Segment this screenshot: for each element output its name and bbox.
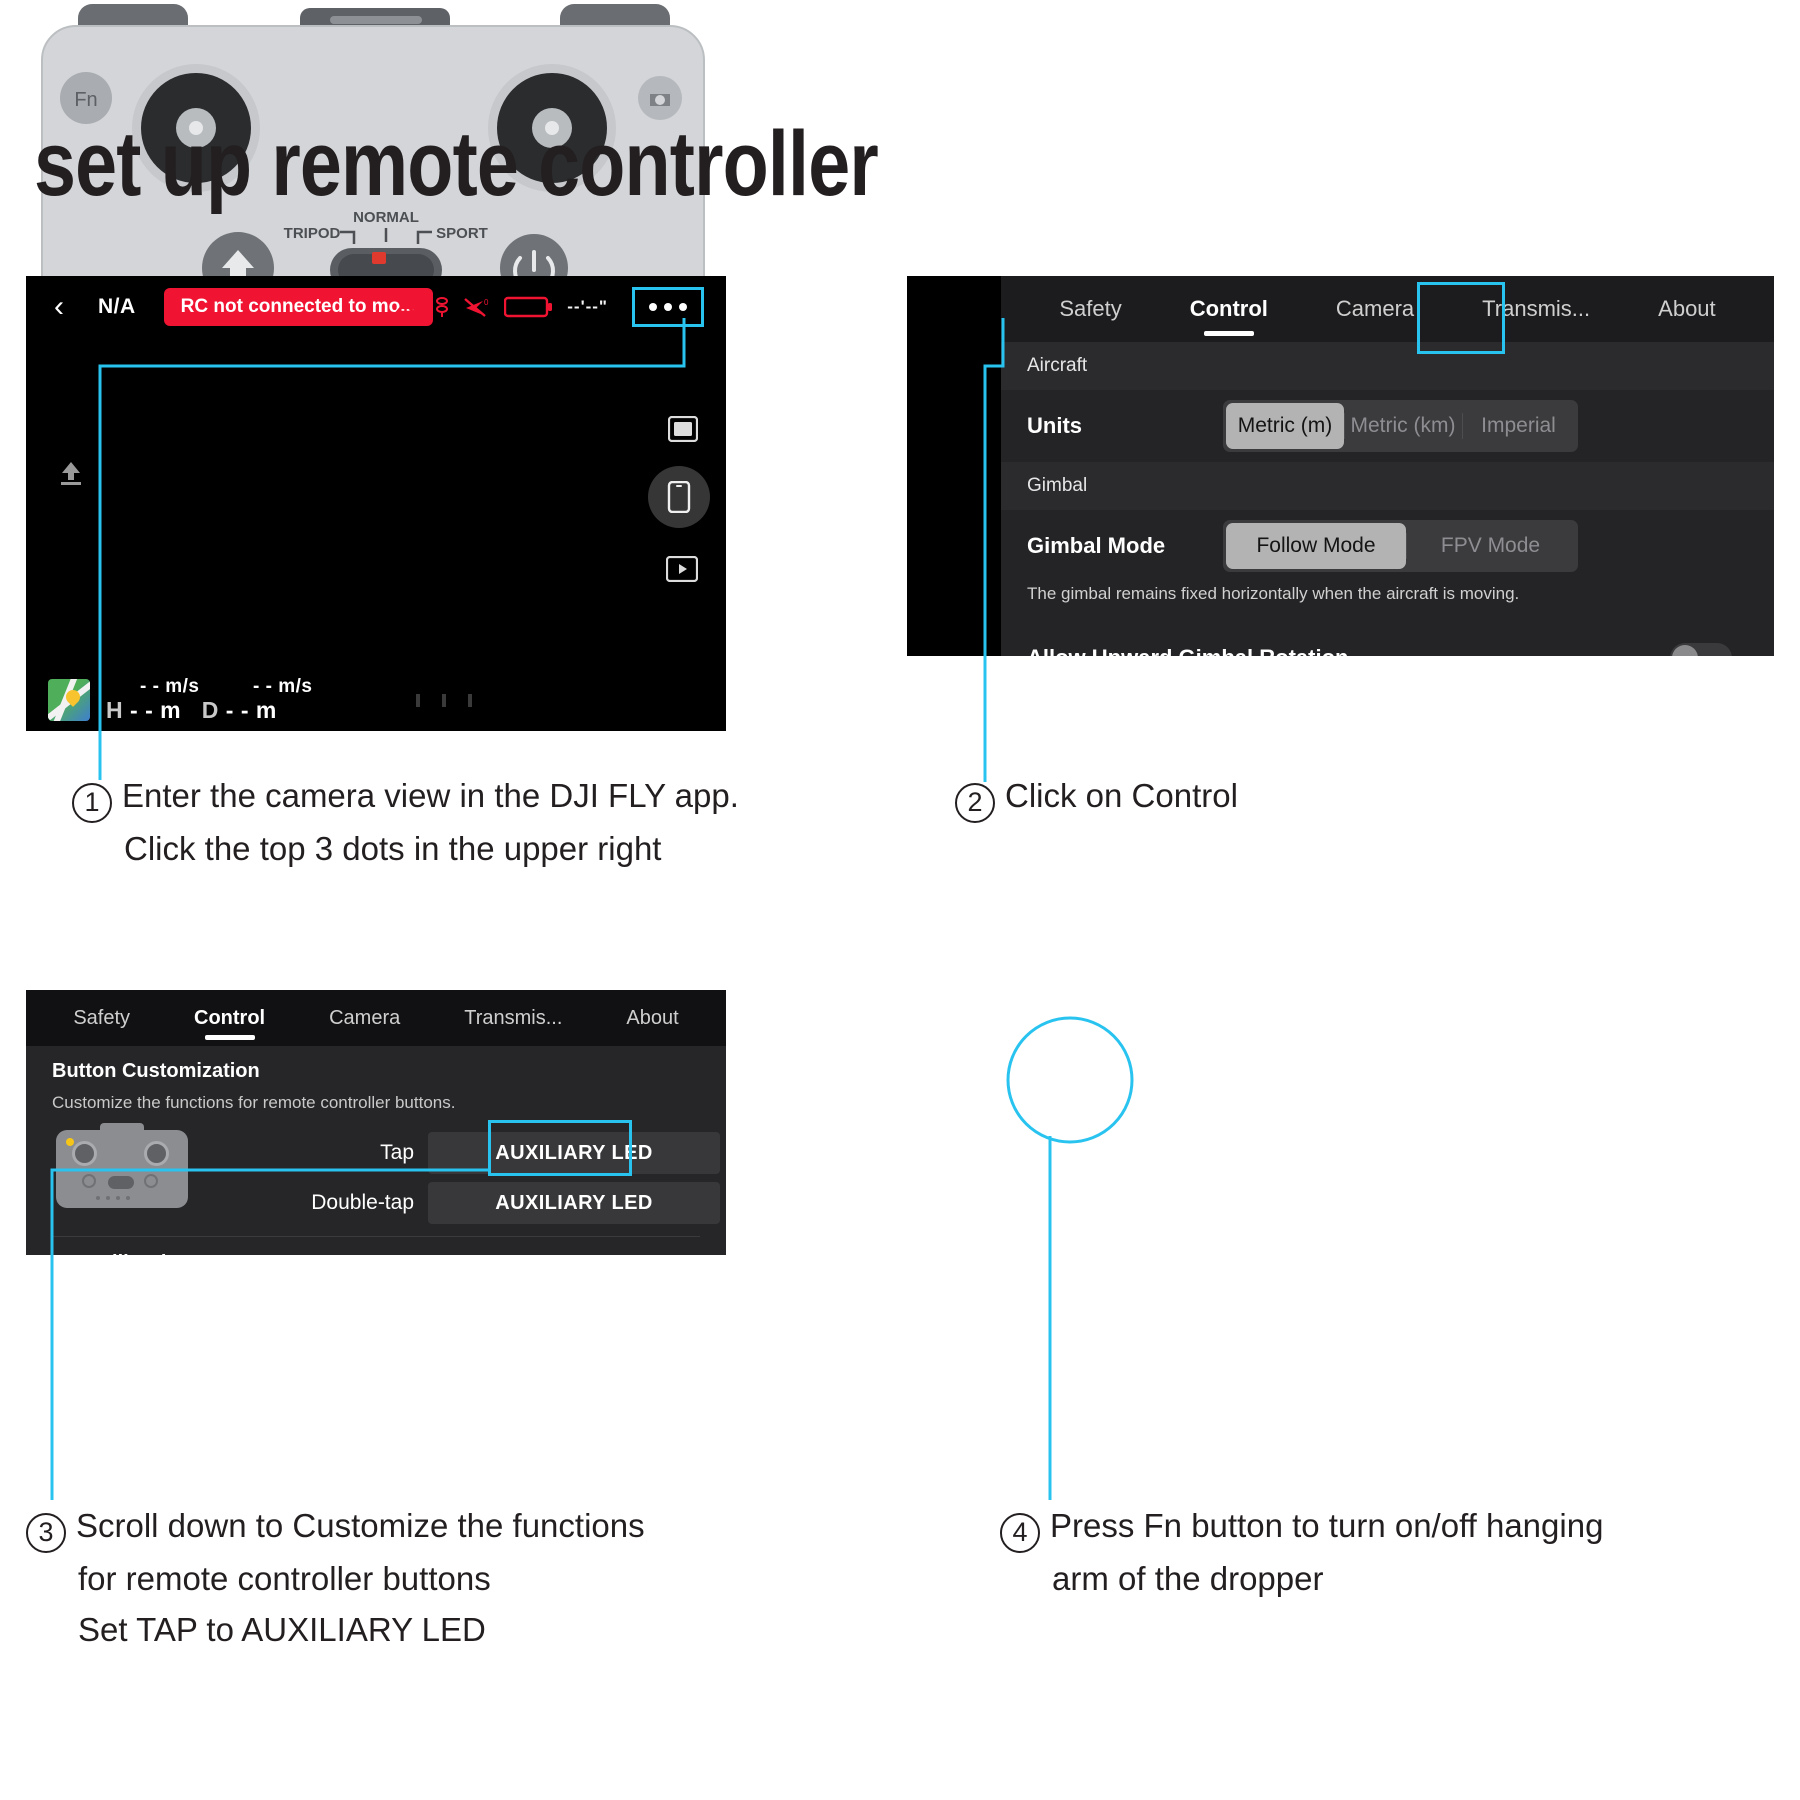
more-options-button[interactable] [632, 287, 704, 327]
tab-active-underline [1204, 331, 1254, 336]
back-chevron-icon[interactable]: ‹ [54, 292, 64, 322]
exposure-ticks [416, 694, 472, 707]
rc-calibration-row[interactable]: RC Calibration › [26, 1236, 726, 1255]
dot [649, 303, 657, 311]
upward-gimbal-label: Allow Upward Gimbal Rotation [1027, 645, 1348, 656]
tab-camera[interactable]: Camera [1302, 276, 1448, 342]
step-number-4: 4 [1000, 1513, 1040, 1553]
battery-time-label: --'--" [567, 297, 608, 317]
playback-icon[interactable] [666, 556, 698, 587]
page-title: set up remote controller [34, 112, 878, 217]
gimbal-mode-segmented-control[interactable]: Follow Mode FPV Mode [1223, 520, 1578, 572]
caption-4-line-1: Press Fn button to turn on/off hanging [1050, 1507, 1603, 1544]
units-option-metric-km[interactable]: Metric (km) [1344, 403, 1462, 449]
units-segmented-control[interactable]: Metric (m) Metric (km) Imperial [1223, 400, 1578, 452]
caption-3-line-3: Set TAP to AUXILIARY LED [26, 1604, 866, 1655]
led-indicator-icon [66, 1138, 74, 1146]
tab-safety[interactable]: Safety [1025, 276, 1155, 342]
gimbal-mode-hint: The gimbal remains fixed horizontally wh… [1001, 582, 1774, 620]
right-stick-icon [144, 1141, 169, 1166]
caption-step-1: 1Enter the camera view in the DJI FLY ap… [72, 770, 872, 874]
caption-3-line-1: Scroll down to Customize the functions [76, 1507, 645, 1544]
caption-1-line-2: Click the top 3 dots in the upper right [72, 823, 872, 874]
upload-icon[interactable] [56, 458, 86, 493]
battery-icon [504, 295, 554, 319]
vertical-speed-value: - - m/s [140, 676, 199, 697]
caption-2-line-1: Click on Control [1005, 777, 1238, 814]
step-number-3: 3 [26, 1513, 66, 1553]
step-number-1: 1 [72, 783, 112, 823]
units-option-imperial[interactable]: Imperial [1462, 403, 1575, 449]
camera-view-screenshot: ‹ N/A RC not connected to mo... 0 --'--" [26, 276, 726, 731]
tab2-control-label: Control [194, 1007, 265, 1030]
button-customization-title: Button Customization [26, 1046, 726, 1083]
tab2-transmission[interactable]: Transmis... [432, 990, 594, 1046]
svg-text:0: 0 [484, 298, 489, 307]
gimbal-mode-row: Gimbal Mode Follow Mode FPV Mode [1001, 510, 1774, 582]
tap-mapping-row: Tap AUXILIARY LED [296, 1132, 720, 1174]
section-header-aircraft: Aircraft [1001, 342, 1774, 390]
fn-button-label: Fn [74, 89, 97, 111]
tab2-about[interactable]: About [594, 990, 710, 1046]
units-label: Units [1027, 413, 1082, 439]
units-row: Units Metric (m) Metric (km) Imperial [1001, 390, 1774, 462]
control-settings-screenshot: Safety Control Camera Transmis... About … [907, 276, 1774, 656]
gps-off-icon: 0 [463, 296, 491, 318]
dot [664, 303, 672, 311]
caption-3-line-2: for remote controller buttons [26, 1553, 866, 1604]
height-label: H [106, 697, 123, 723]
mode-switch-right-label: SPORT [436, 225, 488, 242]
distance-value: - - m [226, 697, 277, 723]
rc-alert-badge: RC not connected to mo... [164, 288, 433, 326]
units-option-metric-m[interactable]: Metric (m) [1226, 403, 1344, 449]
tab2-active-underline [205, 1035, 255, 1040]
remote-controller-thumbnail [56, 1130, 188, 1208]
caption-step-4: 4Press Fn button to turn on/off hanging … [1000, 1500, 1780, 1604]
rc-calibration-label: RC Calibration [52, 1252, 191, 1256]
double-tap-value-button[interactable]: AUXILIARY LED [428, 1182, 720, 1224]
settings-body: Safety Control Camera Transmis... About … [1001, 276, 1774, 656]
button-customization-screenshot: Safety Control Camera Transmis... About … [26, 990, 726, 1255]
horizontal-speed-value: - - m/s [253, 676, 312, 697]
map-pin-icon [63, 687, 83, 707]
no-signal-icon [395, 296, 421, 318]
tap-label: Tap [296, 1141, 414, 1165]
dot [679, 303, 687, 311]
gimbal-option-fpv[interactable]: FPV Mode [1406, 523, 1575, 569]
poster-root: set up remote controller ‹ N/A RC not co… [0, 0, 1800, 1800]
upward-gimbal-row: Allow Upward Gimbal Rotation [1001, 620, 1774, 656]
caption-4-line-2: arm of the dropper [1000, 1553, 1780, 1604]
chevron-right-icon: › [692, 1249, 700, 1255]
double-tap-mapping-row: Double-tap AUXILIARY LED [296, 1182, 720, 1224]
mode-switch-left-label: TRIPOD [284, 225, 341, 242]
tab-control[interactable]: Control [1156, 276, 1302, 342]
upward-gimbal-toggle[interactable] [1670, 643, 1732, 656]
caption-step-2: 2Click on Control [955, 770, 1655, 823]
panel-left-gutter [907, 276, 1001, 656]
double-tap-label: Double-tap [296, 1191, 414, 1215]
flight-mode-label: N/A [98, 295, 136, 319]
map-thumbnail[interactable] [48, 679, 90, 721]
telemetry-bar: - - m/s - - m/s H - - m D - - m [26, 669, 726, 731]
toggle-knob [1672, 645, 1698, 656]
settings-tab-bar-2: Safety Control Camera Transmis... About [26, 990, 726, 1046]
photo-frame-icon[interactable] [668, 416, 698, 447]
height-value: - - m [130, 697, 181, 723]
section-header-gimbal: Gimbal [1001, 462, 1774, 510]
left-stick-icon [72, 1141, 97, 1166]
tab2-camera[interactable]: Camera [297, 990, 432, 1046]
button-customization-body: Button Customization Customize the funct… [26, 1046, 726, 1255]
tab-transmission[interactable]: Transmis... [1448, 276, 1624, 342]
tap-value-button[interactable]: AUXILIARY LED [428, 1132, 720, 1174]
rc-signal-icon [434, 296, 450, 318]
tab2-safety[interactable]: Safety [41, 990, 162, 1046]
settings-tab-bar: Safety Control Camera Transmis... About [1001, 276, 1774, 342]
step-number-2: 2 [955, 783, 995, 823]
camera-topbar: ‹ N/A RC not connected to mo... 0 --'--" [26, 276, 726, 338]
gimbal-mode-label: Gimbal Mode [1027, 533, 1165, 559]
tab-about[interactable]: About [1624, 276, 1750, 342]
telemetry-readout: - - m/s - - m/s H - - m D - - m [106, 676, 312, 723]
phone-capture-button[interactable] [648, 466, 710, 528]
tab-control-label: Control [1190, 296, 1268, 322]
caption-1-line-1: Enter the camera view in the DJI FLY app… [122, 777, 739, 814]
distance-label: D [202, 697, 219, 723]
caption-step-3: 3Scroll down to Customize the functions … [26, 1500, 866, 1655]
status-icon-group: 0 --'--" [395, 295, 608, 319]
button-customization-subtitle: Customize the functions for remote contr… [26, 1083, 726, 1113]
tab2-control[interactable]: Control [162, 990, 297, 1046]
gimbal-option-follow[interactable]: Follow Mode [1226, 523, 1406, 569]
